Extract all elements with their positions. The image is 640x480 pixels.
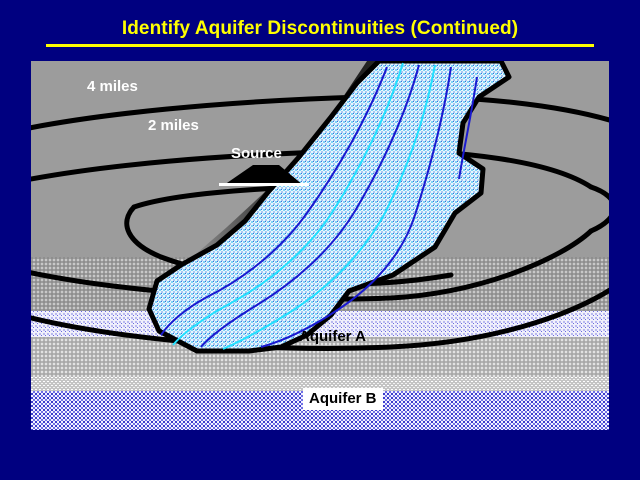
stratum-confining-layer [31,337,609,377]
title-underline-rule [46,44,594,47]
source-baseline [219,183,309,186]
stratum-lower-white-band [31,377,609,391]
title-block: Identify Aquifer Discontinuities (Contin… [0,18,640,40]
page-title: Identify Aquifer Discontinuities (Contin… [0,18,640,40]
stratum-aquifer-b [31,391,609,430]
slide-canvas: Identify Aquifer Discontinuities (Contin… [0,0,640,480]
aquifer-diagram-svg [31,61,609,430]
diagram-panel: 4 miles 2 miles Source Aquifer A Aquifer… [31,61,609,430]
